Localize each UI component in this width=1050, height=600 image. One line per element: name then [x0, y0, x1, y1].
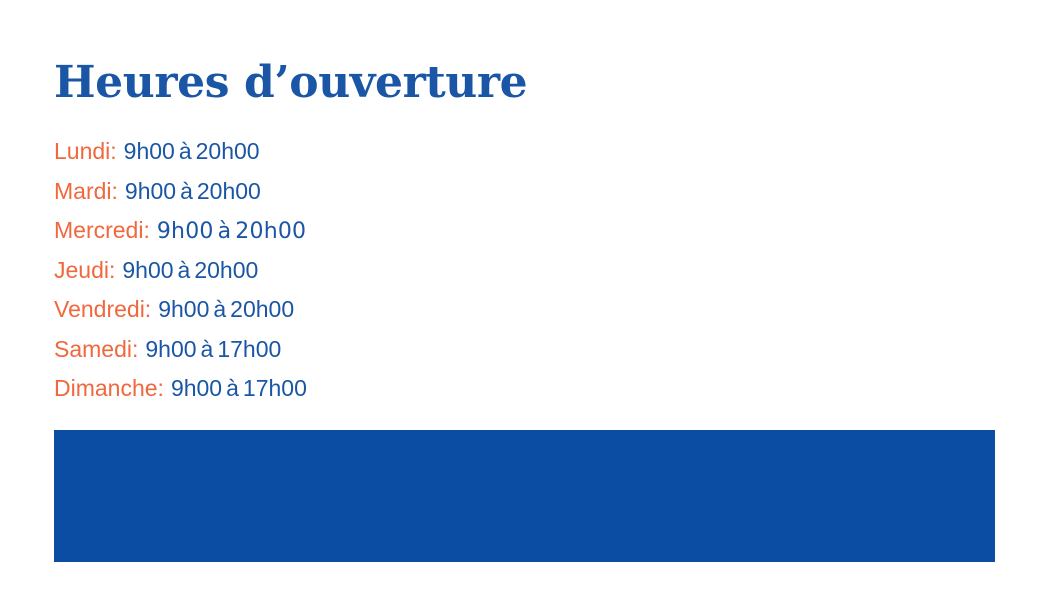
- hours-row-mercredi: Mercredi:9h00à20h00: [54, 211, 854, 251]
- close-time-samedi: 17h00: [217, 336, 281, 362]
- day-label-jeudi: Jeudi:: [54, 257, 115, 283]
- open-time-lundi: 9h00: [124, 138, 175, 164]
- day-hours-dimanche: 9h00à17h00: [171, 375, 307, 401]
- day-hours-samedi: 9h00à17h00: [145, 336, 281, 362]
- hours-row-samedi: Samedi:9h00à17h00: [54, 330, 854, 370]
- day-hours-mercredi: 9h00à20h00: [157, 219, 306, 244]
- hours-row-lundi: Lundi:9h00à20h00: [54, 132, 854, 172]
- hours-row-vendredi: Vendredi:9h00à20h00: [54, 290, 854, 330]
- day-hours-vendredi: 9h00à20h00: [158, 296, 294, 322]
- day-label-lundi: Lundi:: [54, 138, 117, 164]
- close-time-jeudi: 20h00: [194, 257, 258, 283]
- open-time-mardi: 9h00: [125, 178, 176, 204]
- time-separator-mercredi: à: [218, 219, 232, 244]
- open-time-samedi: 9h00: [145, 336, 196, 362]
- day-label-samedi: Samedi:: [54, 336, 138, 362]
- hours-row-jeudi: Jeudi:9h00à20h00: [54, 251, 854, 291]
- time-separator-vendredi: à: [213, 296, 226, 322]
- close-time-lundi: 20h00: [196, 138, 260, 164]
- close-time-mardi: 20h00: [197, 178, 261, 204]
- time-separator-lundi: à: [179, 138, 192, 164]
- open-time-vendredi: 9h00: [158, 296, 209, 322]
- hours-row-mardi: Mardi:9h00à20h00: [54, 172, 854, 212]
- close-time-vendredi: 20h00: [230, 296, 294, 322]
- day-label-dimanche: Dimanche:: [54, 375, 164, 401]
- blue-banner-block: [54, 430, 995, 562]
- time-separator-mardi: à: [180, 178, 193, 204]
- day-hours-jeudi: 9h00à20h00: [122, 257, 258, 283]
- open-time-dimanche: 9h00: [171, 375, 222, 401]
- close-time-mercredi: 20h00: [235, 219, 306, 244]
- time-separator-jeudi: à: [178, 257, 191, 283]
- time-separator-dimanche: à: [226, 375, 239, 401]
- day-hours-mardi: 9h00à20h00: [125, 178, 261, 204]
- day-label-mercredi: Mercredi:: [54, 217, 150, 243]
- time-separator-samedi: à: [201, 336, 214, 362]
- opening-hours-list: Lundi:9h00à20h00 Mardi:9h00à20h00 Mercre…: [54, 132, 854, 409]
- day-label-vendredi: Vendredi:: [54, 296, 151, 322]
- hours-row-dimanche: Dimanche:9h00à17h00: [54, 369, 854, 409]
- slide-canvas: Heures d’ouverture Lundi:9h00à20h00 Mard…: [0, 0, 1050, 600]
- day-hours-lundi: 9h00à20h00: [124, 138, 260, 164]
- day-label-mardi: Mardi:: [54, 178, 118, 204]
- open-time-mercredi: 9h00: [157, 219, 214, 244]
- open-time-jeudi: 9h00: [122, 257, 173, 283]
- close-time-dimanche: 17h00: [243, 375, 307, 401]
- page-title: Heures d’ouverture: [54, 56, 527, 110]
